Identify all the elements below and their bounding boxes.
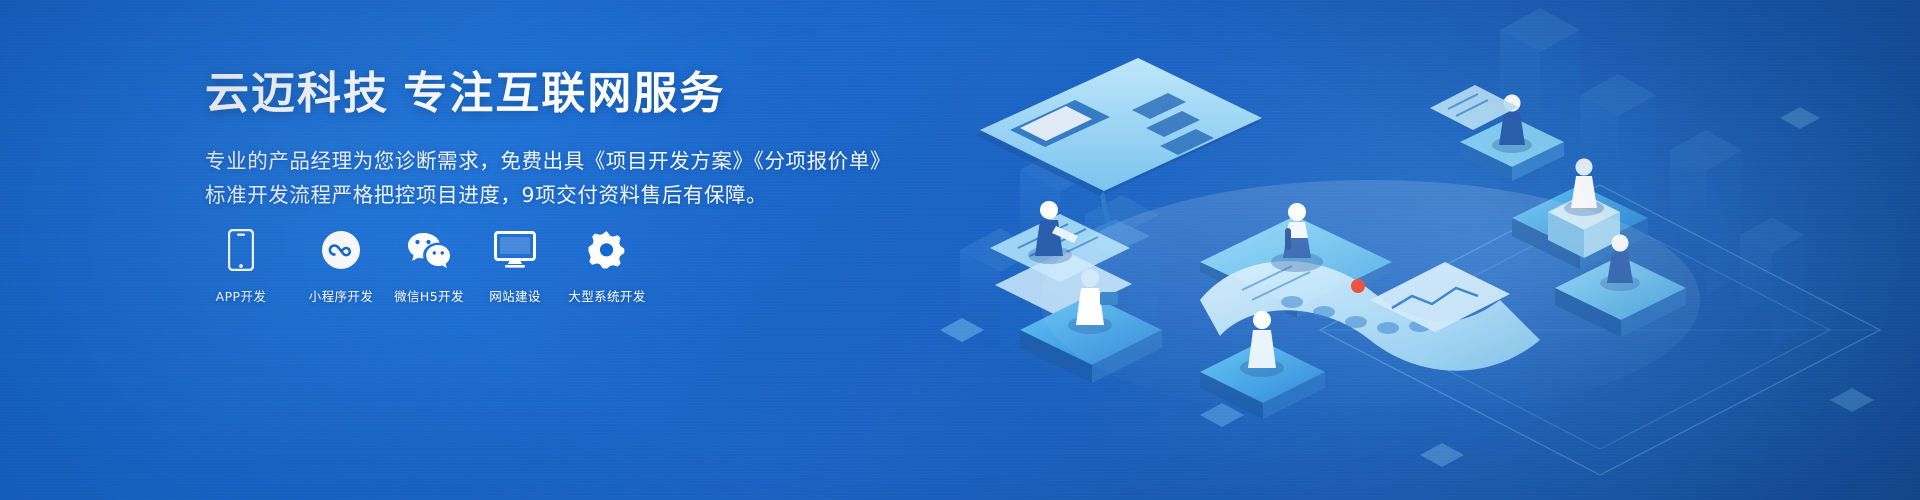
- gear-icon: [587, 228, 627, 272]
- page-title: 云迈科技 专注互联网服务: [205, 68, 925, 120]
- mini-program-icon: [321, 228, 361, 272]
- subtitle-line-2: 标准开发流程严格把控项目进度，9项交付资料售后有保障。: [205, 178, 925, 212]
- subtitle-line-1: 专业的产品经理为您诊断需求，免费出具《项目开发方案》《分项报价单》: [205, 144, 925, 178]
- hero-banner: 云迈科技 专注互联网服务 专业的产品经理为您诊断需求，免费出具《项目开发方案》《…: [0, 0, 1920, 500]
- service-item-wechat-h5[interactable]: 微信H5开发: [393, 228, 465, 305]
- mobile-phone-icon: [228, 228, 254, 272]
- service-label: 网站建设: [489, 286, 541, 305]
- service-label: 大型系统开发: [568, 286, 645, 305]
- wechat-icon: [406, 228, 452, 272]
- service-item-website[interactable]: 网站建设: [479, 228, 551, 305]
- monitor-icon: [494, 228, 536, 272]
- service-label: 微信H5开发: [394, 286, 464, 305]
- isometric-illustration: [900, 0, 1920, 500]
- service-item-miniprogram[interactable]: 小程序开发: [305, 228, 377, 305]
- service-item-large-system[interactable]: 大型系统开发: [571, 228, 643, 305]
- service-list: APP开发 小程序开发 微信: [205, 228, 643, 305]
- service-label: 小程序开发: [309, 286, 374, 305]
- hero-subtitle: 专业的产品经理为您诊断需求，免费出具《项目开发方案》《分项报价单》 标准开发流程…: [205, 144, 925, 212]
- service-label: APP开发: [216, 286, 267, 305]
- service-item-app[interactable]: APP开发: [205, 228, 277, 305]
- hero-copy: 云迈科技 专注互联网服务 专业的产品经理为您诊断需求，免费出具《项目开发方案》《…: [205, 68, 925, 212]
